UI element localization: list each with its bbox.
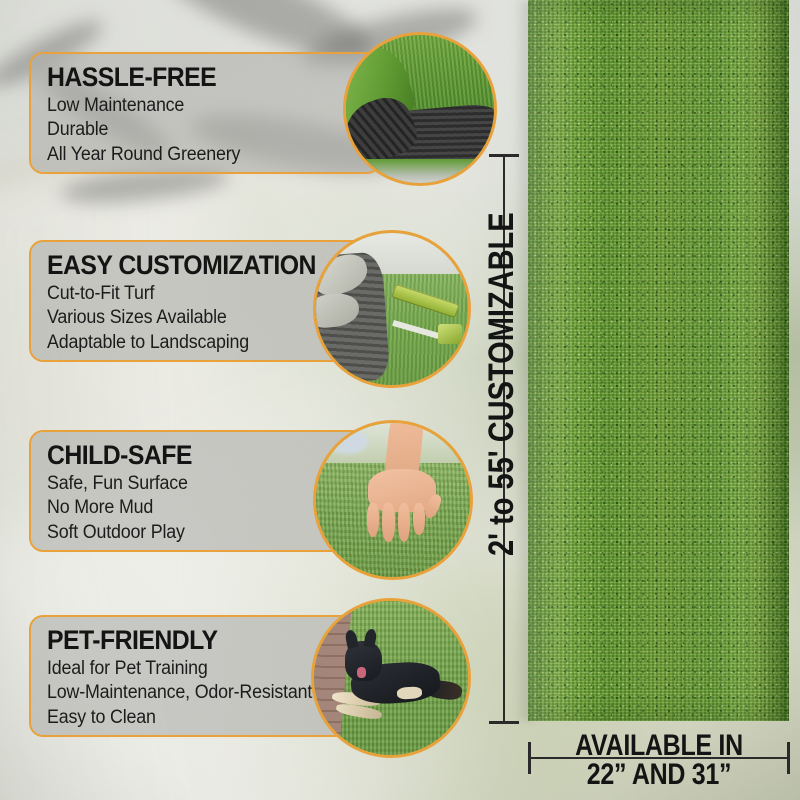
feature-line: Durable <box>47 118 346 142</box>
feature-title: HASSLE-FREE <box>47 63 340 91</box>
background-object <box>328 429 368 454</box>
photo-content <box>316 233 468 385</box>
length-dimension-cap-top <box>489 154 519 157</box>
photo-content <box>346 35 494 183</box>
length-dimension-cap-bottom <box>489 721 519 724</box>
feature-line: Low-Maintenance, Odor-Resistant <box>47 681 346 705</box>
feature-line: All Year Round Greenery <box>47 143 346 167</box>
feature-line: Cut-to-Fit Turf <box>47 282 346 306</box>
turf-strip-sheen <box>528 0 789 721</box>
feature-card-hassle-free[interactable]: HASSLE-FREE Low Maintenance Durable All … <box>29 52 381 174</box>
feature-line: Various Sizes Available <box>47 306 346 330</box>
infographic-canvas: HASSLE-FREE Low Maintenance Durable All … <box>0 0 800 800</box>
feature-line: Low Maintenance <box>47 94 346 118</box>
length-dimension-text: 2' to 55' CUSTOMIZABLE <box>482 212 522 556</box>
feature-line: Ideal for Pet Training <box>47 657 346 681</box>
child-finger <box>382 503 394 542</box>
tape-measure-body <box>438 324 462 344</box>
width-label-line-2: 22” AND 31” <box>528 758 790 792</box>
feature-line: Soft Outdoor Play <box>47 521 346 545</box>
child-hand-on-turf-photo[interactable] <box>313 420 473 580</box>
feature-line: No More Mud <box>47 496 346 520</box>
feature-title: CHILD-SAFE <box>47 441 340 469</box>
dog-lying-on-turf-photo[interactable] <box>311 598 471 758</box>
feature-line: Adaptable to Landscaping <box>47 331 346 355</box>
feature-title: PET-FRIENDLY <box>47 626 340 654</box>
length-dimension-label: 2' to 55' CUSTOMIZABLE <box>486 212 519 556</box>
rolled-turf-backing-photo[interactable] <box>343 32 497 186</box>
feature-line: Safe, Fun Surface <box>47 472 346 496</box>
feature-line: Easy to Clean <box>47 706 346 730</box>
photo-content <box>314 601 468 755</box>
child-finger <box>367 503 379 537</box>
turf-strip <box>528 0 789 721</box>
photo-content <box>316 423 470 577</box>
feature-title: EASY CUSTOMIZATION <box>47 251 340 279</box>
dog-tongue <box>357 667 366 678</box>
child-finger <box>398 503 410 542</box>
gloved-hands-installing-turf-photo[interactable] <box>313 230 471 388</box>
photo-floor <box>346 159 494 183</box>
